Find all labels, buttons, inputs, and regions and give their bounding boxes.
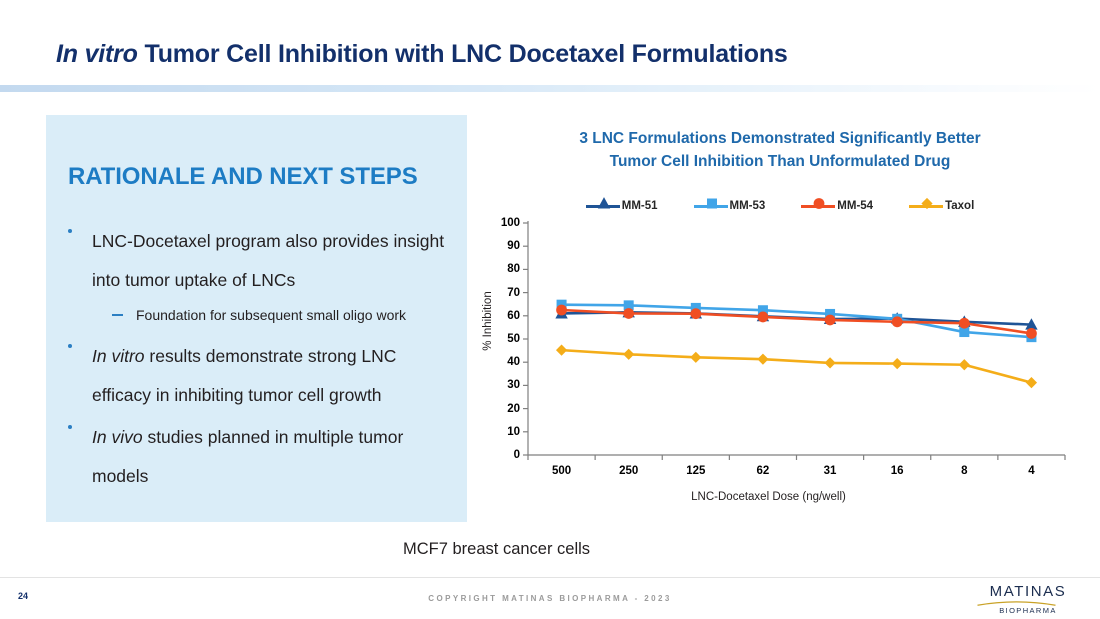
plot-svg xyxy=(470,215,1080,485)
list-item-label: Foundation for subsequent small oligo wo… xyxy=(136,303,458,327)
list-item: In vitro results demonstrate strong LNC … xyxy=(68,337,458,415)
legend-swatch-diamond-icon xyxy=(909,205,943,208)
legend-item-mm-54[interactable]: MM-54 xyxy=(801,200,873,212)
header-divider xyxy=(0,85,1100,92)
bullet-list: LNC-Docetaxel program also provides insi… xyxy=(68,222,458,499)
legend-label: MM-53 xyxy=(730,200,766,212)
x-axis-label: LNC-Docetaxel Dose (ng/well) xyxy=(500,491,1037,503)
page-title-italic: In vitro xyxy=(56,40,138,68)
copyright-notice: COPYRIGHT MATINAS BIOPHARMA - 2023 xyxy=(0,594,1100,603)
chart-title-line-2: Tumor Cell Inhibition Than Unformulated … xyxy=(520,150,1040,173)
chart-caption: MCF7 breast cancer cells xyxy=(403,540,590,559)
legend-swatch-circle-icon xyxy=(801,205,835,208)
legend-item-mm-51[interactable]: MM-51 xyxy=(586,200,658,212)
page-title: In vitro Tumor Cell Inhibition with LNC … xyxy=(56,40,788,69)
list-item: In vivo studies planned in multiple tumo… xyxy=(68,418,458,496)
legend-swatch-square-icon xyxy=(694,205,728,208)
panel-heading: RATIONALE AND NEXT STEPS xyxy=(68,163,418,191)
legend-label: MM-54 xyxy=(837,200,873,212)
bullet-dot-icon xyxy=(68,425,72,429)
legend-item-taxol[interactable]: Taxol xyxy=(909,200,974,212)
inhibition-chart: 3 LNC Formulations Demonstrated Signific… xyxy=(470,120,1090,530)
list-item-text: Foundation for subsequent small oligo wo… xyxy=(136,307,406,323)
legend-marker-icon xyxy=(812,197,826,216)
list-item: LNC-Docetaxel program also provides insi… xyxy=(68,222,458,300)
list-item-label: LNC-Docetaxel program also provides insi… xyxy=(92,222,458,300)
list-item-italic: In vivo xyxy=(92,427,143,447)
chart-legend: MM-51MM-53MM-54Taxol xyxy=(510,200,1050,212)
legend-marker-icon xyxy=(597,197,611,216)
legend-item-mm-53[interactable]: MM-53 xyxy=(694,200,766,212)
bullet-dot-icon xyxy=(68,229,72,233)
logo-wordmark: MATINAS xyxy=(974,583,1082,600)
legend-marker-icon xyxy=(920,197,934,216)
list-item-label: In vivo studies planned in multiple tumo… xyxy=(92,418,458,496)
logo-tagline: BIOPHARMA xyxy=(974,606,1082,616)
list-item: Foundation for subsequent small oligo wo… xyxy=(68,303,458,327)
list-item-text: LNC-Docetaxel program also provides insi… xyxy=(92,231,444,290)
bullet-dot-icon xyxy=(68,344,72,348)
legend-marker-icon xyxy=(705,197,719,216)
page-title-rest: Tumor Cell Inhibition with LNC Docetaxel… xyxy=(138,40,788,68)
list-item-label: In vitro results demonstrate strong LNC … xyxy=(92,337,458,415)
footer-divider xyxy=(0,577,1100,578)
chart-title-line-1: 3 LNC Formulations Demonstrated Signific… xyxy=(520,127,1040,150)
list-item-italic: In vitro xyxy=(92,346,145,366)
legend-swatch-triangle-icon xyxy=(586,205,620,208)
matinas-logo: MATINAS BIOPHARMA xyxy=(974,583,1082,616)
chart-title: 3 LNC Formulations Demonstrated Signific… xyxy=(520,127,1040,173)
legend-label: Taxol xyxy=(945,200,974,212)
dash-icon xyxy=(112,314,123,316)
slide: In vitro Tumor Cell Inhibition with LNC … xyxy=(0,0,1100,619)
plot-area: % Inhibition 0102030405060708090100 5002… xyxy=(470,215,1080,485)
legend-label: MM-51 xyxy=(622,200,658,212)
